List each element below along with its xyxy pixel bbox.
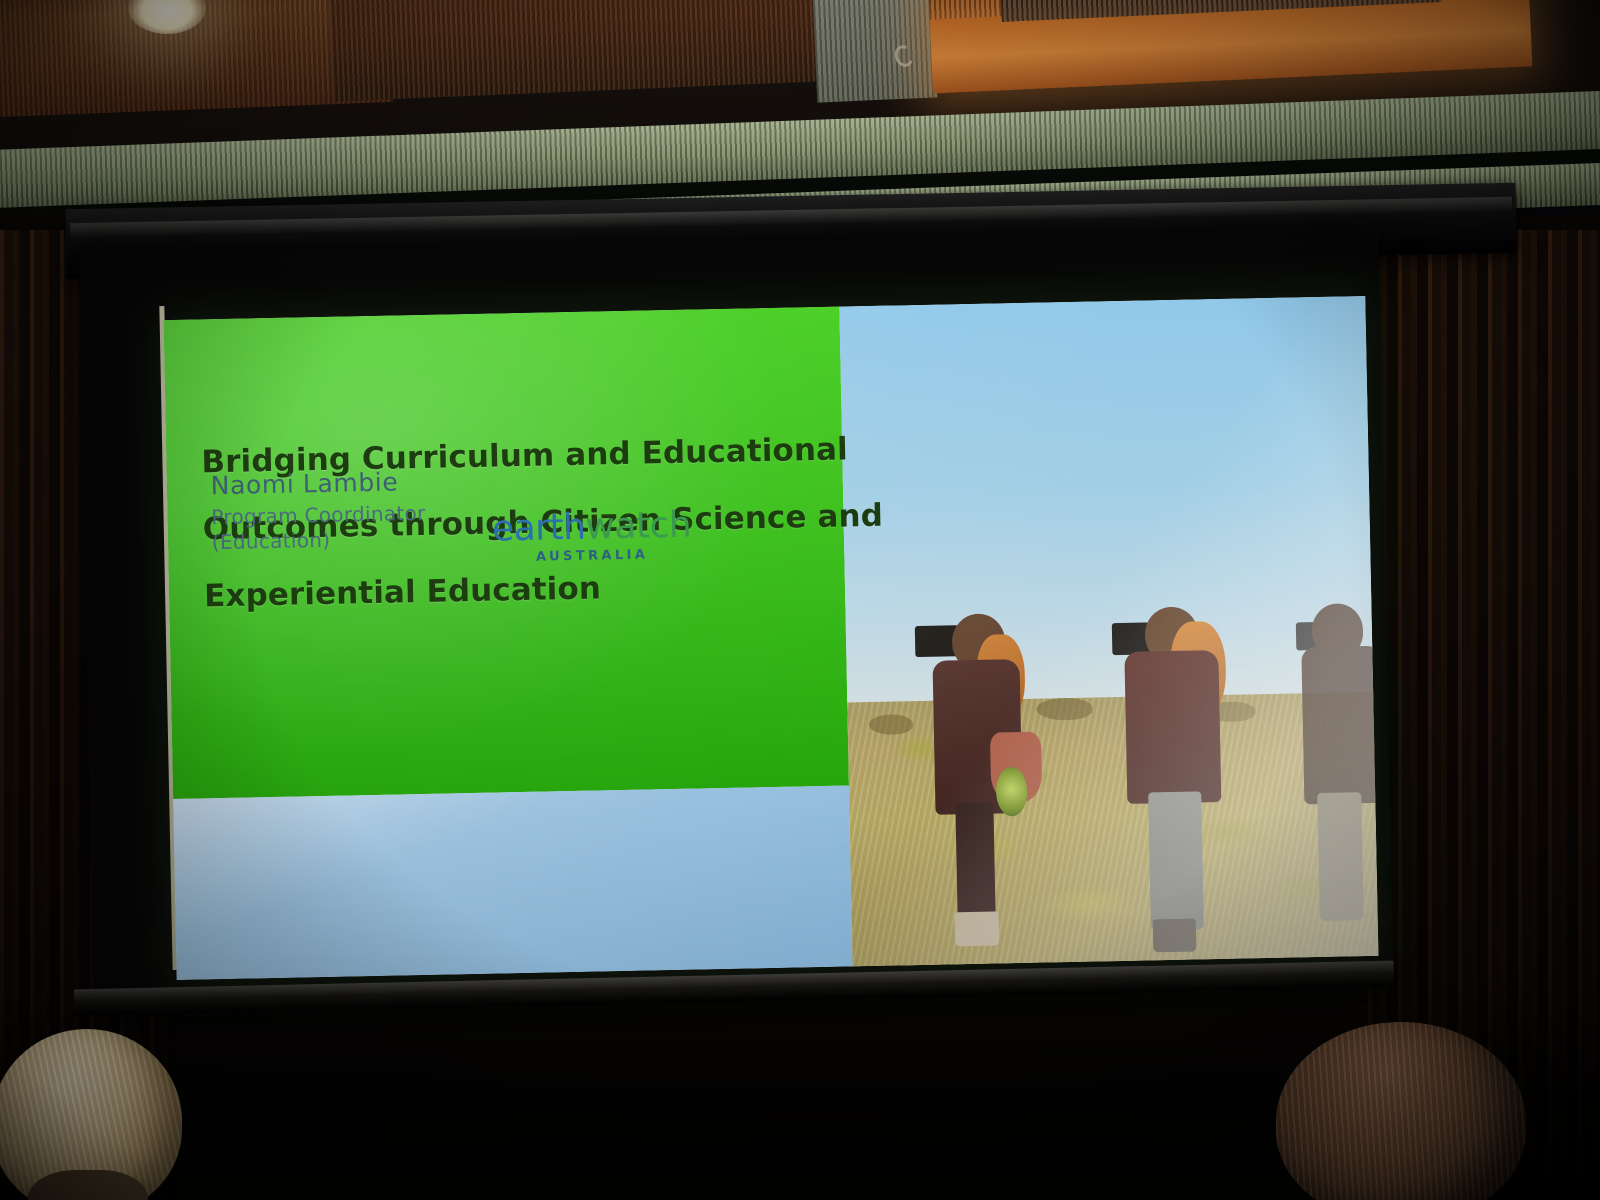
photo-sky <box>839 296 1374 722</box>
presenter-role-line-2: (Education) <box>212 526 427 555</box>
photo-person-2 <box>1119 602 1253 966</box>
person-legs <box>1148 792 1204 931</box>
presenter-block: Naomi Lambie Program Coordinator (Educat… <box>210 467 426 555</box>
person-legs <box>1318 792 1365 921</box>
person-legs <box>955 803 996 923</box>
photo-person-1 <box>929 613 1057 965</box>
logo-word-watch: watch <box>585 505 692 548</box>
photo-ground <box>847 692 1379 967</box>
ceiling-wood-panel-mid <box>327 0 893 102</box>
gear-icon <box>995 767 1027 817</box>
presenter-role-line-1: Program Coordinator <box>211 501 426 530</box>
person-boots <box>955 911 999 947</box>
person-jacket <box>1301 646 1379 804</box>
conference-room-scene: Bridging Curriculum and Educational Outc… <box>0 0 1600 1200</box>
slide-left-column: Bridging Curriculum and Educational Outc… <box>163 307 852 980</box>
person-boots <box>1153 919 1197 953</box>
ceiling-panel-small <box>813 0 938 103</box>
projected-slide: Bridging Curriculum and Educational Outc… <box>163 296 1378 980</box>
photo-person-3 <box>1298 599 1379 958</box>
person-jacket <box>1125 650 1222 804</box>
slide-photograph <box>839 296 1379 966</box>
presenter-name: Naomi Lambie <box>210 467 425 500</box>
logo-word-earth: earth <box>492 507 586 550</box>
slide-blue-panel <box>173 785 852 980</box>
earthwatch-logo: earthwatch AUSTRALIA <box>492 508 692 566</box>
